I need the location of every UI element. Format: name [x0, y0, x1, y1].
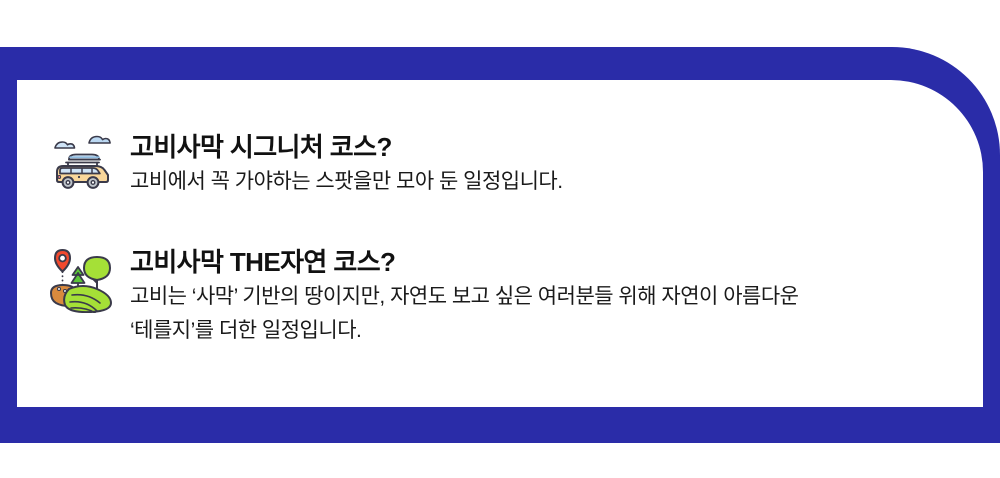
section-heading: 고비사막 THE자연 코스? [130, 247, 798, 277]
section-heading: 고비사막 시그니처 코스? [130, 132, 563, 162]
camper-van-icon [44, 130, 116, 200]
section-nature-course: 고비사막 THE자연 코스? 고비는 ‘사막’ 기반의 땅이지만, 자연도 보고… [44, 245, 798, 348]
content-card: 고비사막 시그니처 코스? 고비에서 꼭 가야하는 스팟을만 모아 둔 일정입니… [17, 80, 983, 407]
section-body-line: 고비에서 꼭 가야하는 스팟을만 모아 둔 일정입니다. [130, 165, 563, 199]
section-text-block: 고비사막 시그니처 코스? 고비에서 꼭 가야하는 스팟을만 모아 둔 일정입니… [130, 130, 563, 199]
section-body-line: 고비는 ‘사막’ 기반의 땅이지만, 자연도 보고 싶은 여러분들 위해 자연이… [130, 280, 798, 314]
section-signature-course: 고비사막 시그니처 코스? 고비에서 꼭 가야하는 스팟을만 모아 둔 일정입니… [44, 130, 563, 200]
section-text-block: 고비사막 THE자연 코스? 고비는 ‘사막’ 기반의 땅이지만, 자연도 보고… [130, 245, 798, 348]
section-body-line: ‘테를지’를 더한 일정입니다. [130, 314, 798, 348]
nature-landscape-icon [44, 245, 116, 315]
